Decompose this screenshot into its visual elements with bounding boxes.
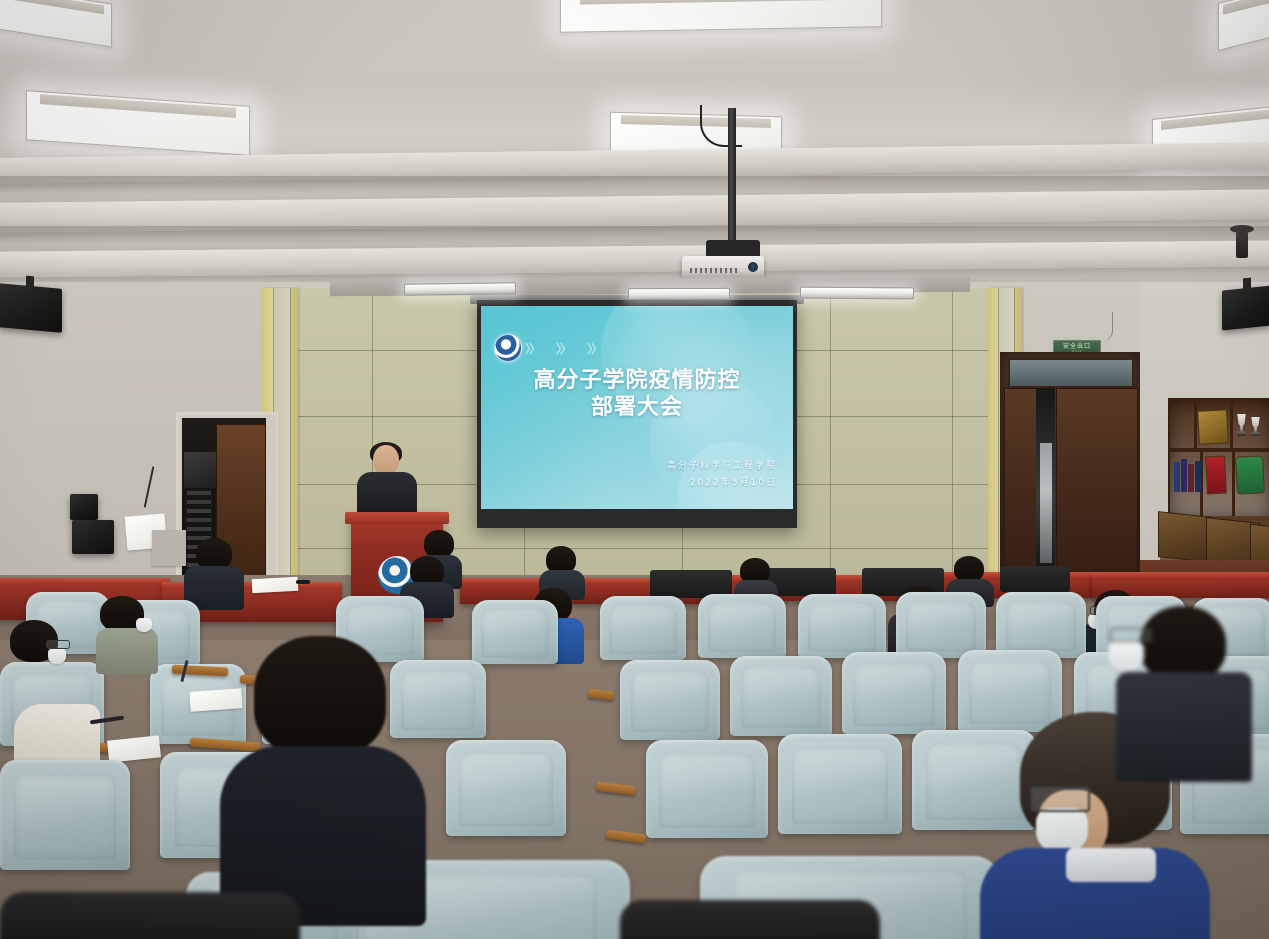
award-plaque <box>1205 456 1227 495</box>
linear-tube-light <box>800 287 914 300</box>
slide-title: 高分子学院疫情防控 部署大会 <box>481 368 793 422</box>
auditorium-photo: 安全出口 EXIT 〉〉〉〉〉〉 高分子学院疫情防控 部署大会 高分子科学与工程… <box>0 0 1269 939</box>
auditorium-seat[interactable] <box>600 596 686 660</box>
chevron-decoration-icon: 〉〉〉〉〉〉 <box>525 340 601 357</box>
eyeglasses <box>1110 628 1152 642</box>
projection-screen: 〉〉〉〉〉〉 高分子学院疫情防控 部署大会 高分子科学与工程学院 2022年5月… <box>481 306 793 509</box>
seat-back-panel <box>1000 566 1070 592</box>
slide-date: 2022年5月10日 <box>667 475 777 492</box>
notepad <box>189 688 242 712</box>
trophy <box>1236 414 1247 436</box>
face-mask <box>1108 640 1144 672</box>
monitor-speaker <box>72 520 114 554</box>
auditorium-seat[interactable] <box>912 730 1036 830</box>
book-row <box>1174 456 1201 492</box>
auditorium-seat[interactable] <box>620 660 720 740</box>
auditorium-seat[interactable] <box>778 734 902 834</box>
projector-mount-pole <box>728 108 736 258</box>
right-door-leaf-left[interactable] <box>1004 388 1040 590</box>
pen <box>296 580 310 584</box>
slide-organization: 高分子科学与工程学院 <box>667 458 777 475</box>
slide-title-line2: 部署大会 <box>481 395 793 422</box>
university-seal-logo <box>494 334 522 362</box>
exit-sign-wire <box>1084 312 1113 342</box>
right-door-leaf-right[interactable] <box>1056 388 1138 590</box>
desk-paper <box>152 530 186 566</box>
linear-tube-light <box>404 282 516 296</box>
wooden-plaque <box>1158 511 1212 563</box>
wall-speaker-left <box>0 283 62 333</box>
auditorium-seat[interactable] <box>646 740 768 838</box>
award-plaque <box>1197 409 1229 445</box>
slide-title-line1: 高分子学院疫情防控 <box>481 368 793 395</box>
door-transom-window <box>1008 358 1134 388</box>
eyeglasses <box>1030 786 1090 812</box>
presenter-head <box>373 445 399 475</box>
right-door-opening[interactable] <box>1036 388 1055 588</box>
linear-tube-light <box>628 288 730 300</box>
auditorium-seat[interactable] <box>996 592 1086 658</box>
slide-subtitle: 高分子科学与工程学院 2022年5月10日 <box>667 458 777 492</box>
auditorium-seat[interactable] <box>798 594 886 658</box>
seat-back-panel <box>0 892 300 939</box>
ceiling-light-panel <box>560 0 882 33</box>
auditorium-seat[interactable] <box>472 600 558 664</box>
monitor-speaker <box>70 494 98 520</box>
projector-lens <box>748 262 758 272</box>
auditorium-seat[interactable] <box>842 652 946 734</box>
ceiling-projector <box>682 256 764 278</box>
auditorium-seat[interactable] <box>698 594 786 658</box>
wall-speaker-right <box>1222 285 1269 330</box>
podium-top <box>345 512 449 524</box>
trophy-display-cabinet <box>1168 398 1269 520</box>
auditorium-seat[interactable] <box>896 592 986 658</box>
av-equipment-box <box>184 452 220 488</box>
trophy <box>1250 417 1261 436</box>
award-plaque <box>1235 455 1265 494</box>
desk-paper <box>252 577 299 593</box>
auditorium-seat[interactable] <box>446 740 566 836</box>
auditorium-seat[interactable] <box>958 650 1062 732</box>
auditorium-seat blur-fg[interactable] <box>0 760 130 870</box>
seat-back-panel <box>620 900 880 939</box>
security-camera <box>1236 232 1248 258</box>
eyeglasses <box>46 640 70 649</box>
auditorium-seat[interactable] <box>730 656 832 736</box>
auditorium-seat[interactable] <box>390 660 486 738</box>
